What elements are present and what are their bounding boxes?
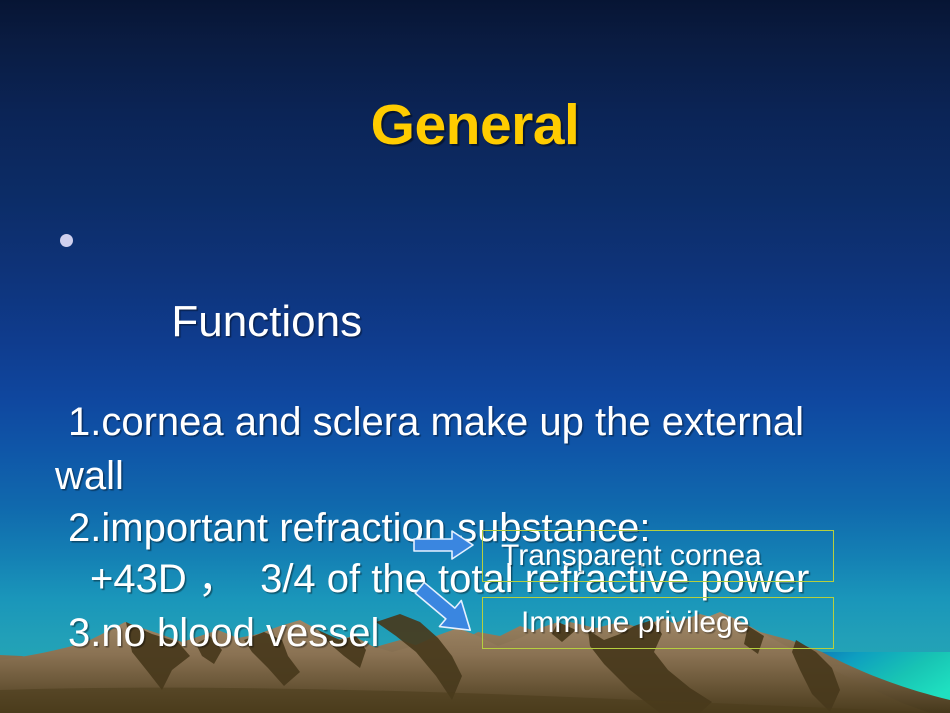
bullet-item-functions: Functions (0, 212, 950, 388)
presentation-slide: General Functions 1.cornea and sclera ma… (0, 0, 950, 713)
water-shape (790, 652, 950, 713)
callout-immune-privilege: Immune privilege (482, 597, 834, 649)
callout-label: Transparent cornea (501, 539, 762, 573)
body-line-1: 1.cornea and sclera make up the external (0, 402, 950, 442)
bullet-item-label: Functions (171, 300, 362, 344)
callout-transparent-cornea: Transparent cornea (482, 530, 834, 582)
mountain-base-shadow (0, 688, 950, 713)
body-line-1-wrap: wall (0, 456, 950, 496)
callout-label: Immune privilege (521, 606, 749, 640)
bullet-dot-icon (60, 234, 73, 247)
slide-body: Functions 1.cornea and sclera make up th… (0, 212, 950, 653)
water-band (782, 652, 950, 713)
slide-title: General (0, 96, 950, 156)
